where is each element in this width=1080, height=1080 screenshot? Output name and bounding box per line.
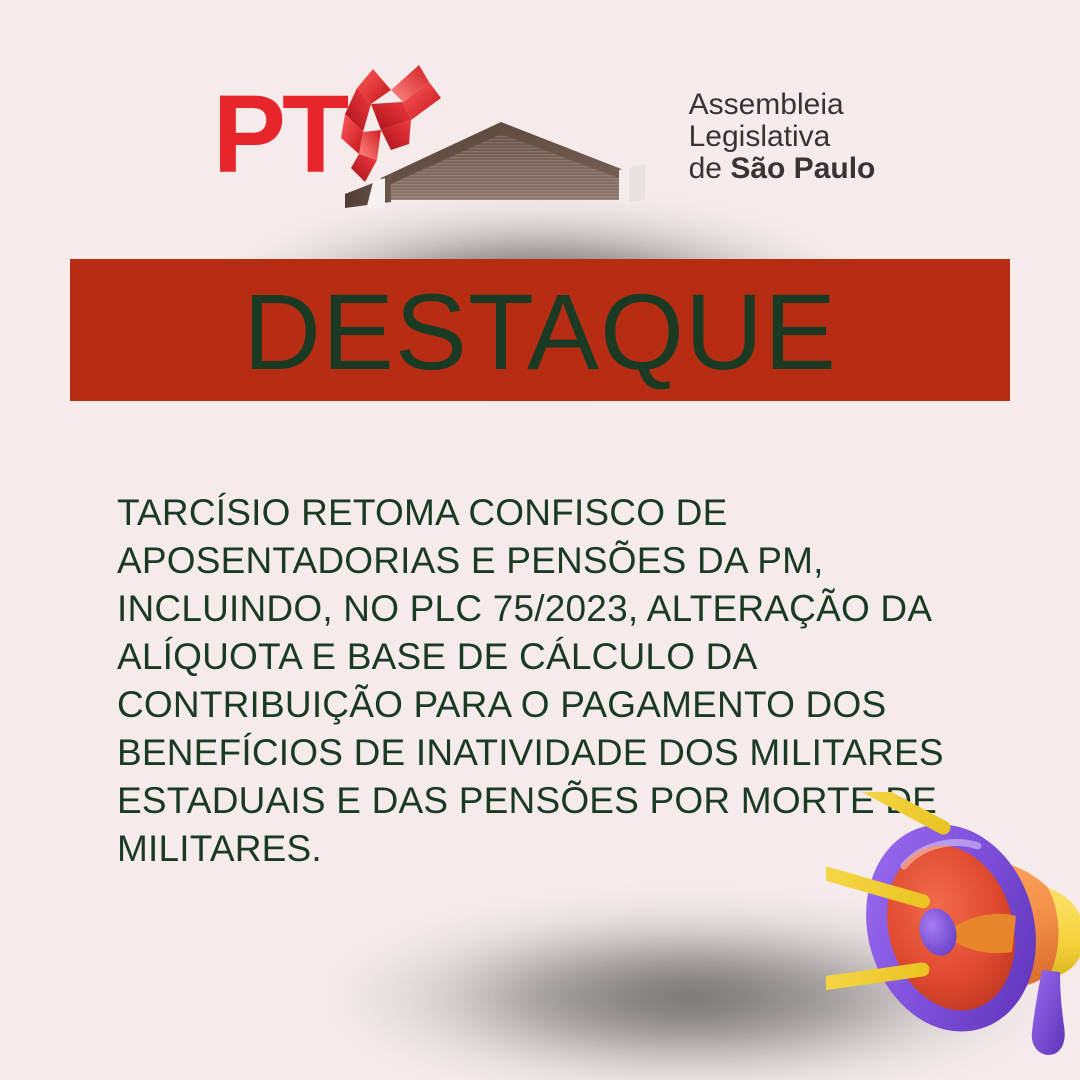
institution-line-3-bold: São Paulo — [730, 152, 875, 185]
headline-line: CONTRIBUIÇÃO PARA O PAGAMENTO DOS — [117, 681, 977, 729]
institution-line-3: de São Paulo — [689, 153, 876, 185]
megaphone-handle — [1032, 970, 1065, 1055]
sound-line-bottom — [826, 962, 930, 993]
destaque-banner: DESTAQUE — [70, 259, 1010, 401]
banner-title: DESTAQUE — [243, 278, 837, 386]
headline-line: INCLUINDO, NO PLC 75/2023, ALTERAÇÃO DA — [117, 585, 977, 633]
institution-name: Assembleia Legislativa de São Paulo — [689, 89, 876, 184]
institution-line-3-prefix: de — [689, 152, 731, 185]
headline-line: APOSENTADORIAS E PENSÕES DA PM, — [117, 537, 977, 585]
header: PT — [0, 58, 1080, 208]
headline-line: TARCÍSIO RETOMA CONFISCO DE — [117, 489, 977, 537]
megaphone-band — [1048, 888, 1080, 978]
megaphone-body — [954, 859, 1068, 989]
headline-line: ALÍQUOTA E BASE DE CÁLCULO DA — [117, 633, 977, 681]
megaphone-center-dot — [914, 904, 962, 960]
pt-alesp-logo: PT — [205, 58, 685, 208]
megaphone-drop-shadow — [330, 905, 1050, 1080]
institution-line-1: Assembleia — [689, 89, 876, 121]
headline-text: TARCÍSIO RETOMA CONFISCO DE APOSENTADORI… — [117, 489, 977, 873]
logo-graphics — [205, 58, 685, 208]
headline-line: BENEFÍCIOS DE INATIVIDADE DOS MILITARES — [117, 729, 977, 777]
institution-line-2: Legislativa — [689, 121, 876, 153]
headline-line: ESTADUAIS E DAS PENSÕES POR MORTE DE — [117, 777, 977, 825]
poster-canvas: PT — [0, 0, 1080, 1080]
megaphone-throat — [944, 914, 1016, 953]
headline-line: MILITARES. — [117, 825, 977, 873]
